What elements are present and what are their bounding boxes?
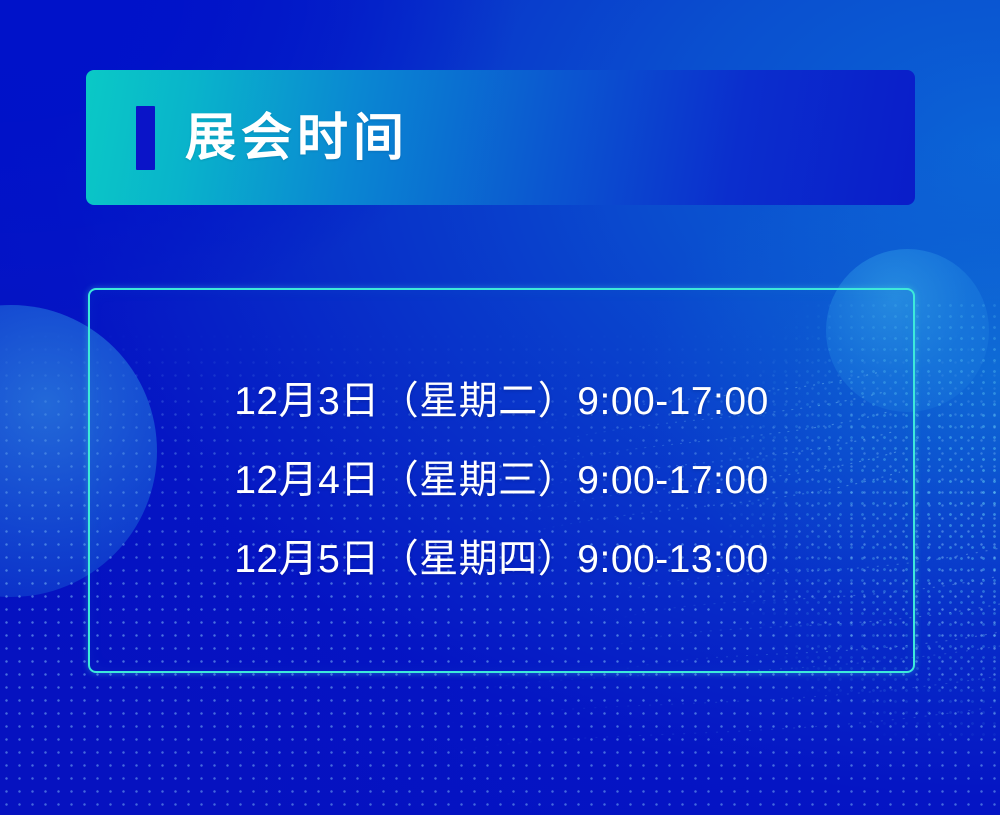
schedule-item: 12月4日（星期三）9:00-17:00 xyxy=(234,461,769,500)
section-header-banner: 展会时间 xyxy=(86,70,915,205)
header-accent-bar xyxy=(136,106,155,170)
schedule-item: 12月5日（星期四）9:00-13:00 xyxy=(234,540,769,579)
page-title: 展会时间 xyxy=(185,112,409,163)
schedule-item: 12月3日（星期二）9:00-17:00 xyxy=(234,382,769,421)
schedule-list: 12月3日（星期二）9:00-17:00 12月4日（星期三）9:00-17:0… xyxy=(88,288,915,673)
poster-canvas: 展会时间 12月3日（星期二）9:00-17:00 12月4日（星期三）9:00… xyxy=(0,0,1000,815)
